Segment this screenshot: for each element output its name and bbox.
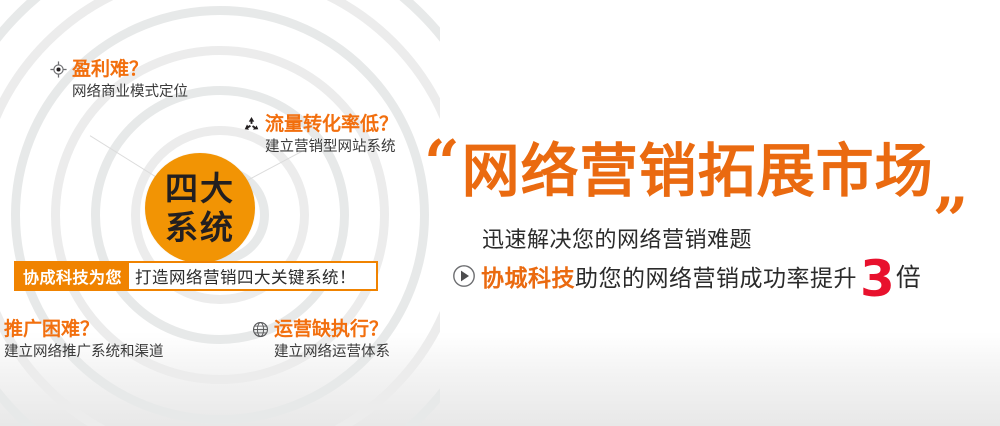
feature-traffic-desc: 建立营销型网站系统 (265, 138, 398, 157)
feature-promote-desc: 建立网络推广系统和渠道 (4, 343, 164, 362)
crosshair-target-icon (50, 61, 67, 78)
center-circle-line1: 四大 (165, 169, 235, 208)
open-quote-mark: “ (424, 142, 460, 184)
hero-multiplier-unit: 倍 (896, 258, 921, 294)
hero-headline-row: “ 网络营销拓展市场 „ (424, 140, 969, 202)
callout-brand-label: 协成科技为您 (16, 263, 129, 289)
feature-ops-title: 运营缺执行？ (274, 318, 388, 340)
feature-ops-desc: 建立网络运营体系 (274, 343, 390, 362)
globe-icon (252, 321, 269, 338)
hero-brand-name: 协城科技 (481, 259, 575, 293)
close-quote-mark: „ (934, 164, 970, 206)
recycle-icon (243, 116, 260, 133)
hero-subline-2: 协城科技 助您的网络营销成功率提升 3 倍 (452, 258, 921, 294)
hero-sub2-text: 助您的网络营销成功率提升 (575, 259, 857, 293)
center-circle: 四大 系统 (145, 153, 255, 263)
hero-subline-1: 迅速解决您的网络营销难题 (482, 228, 752, 254)
callout-bar[interactable]: 协成科技为您 打造网络营销四大关键系统！ (14, 261, 378, 291)
hero-multiplier-number: 3 (860, 262, 895, 296)
play-circle-icon (452, 264, 476, 288)
callout-message: 打造网络营销四大关键系统！ (129, 263, 362, 289)
feature-traffic[interactable]: 流量转化率低？ 建立营销型网站系统 (243, 113, 398, 157)
feature-traffic-title: 流量转化率低？ (265, 113, 398, 135)
center-circle-line2: 系统 (165, 208, 235, 247)
feature-promote[interactable]: 推广困难？ 建立网络推广系统和渠道 (4, 318, 164, 362)
feature-profit-title: 盈利难？ (72, 58, 148, 80)
feature-profit[interactable]: 盈利难？ 网络商业模式定位 (50, 58, 188, 102)
feature-promote-title: 推广困难？ (4, 318, 99, 340)
marketing-banner: 四大 系统 盈利难？ 网络商业模式定位 (0, 0, 1000, 426)
hero-headline: 网络营销拓展市场 (462, 140, 934, 202)
feature-profit-desc: 网络商业模式定位 (72, 83, 188, 102)
feature-ops[interactable]: 运营缺执行？ 建立网络运营体系 (252, 318, 390, 362)
